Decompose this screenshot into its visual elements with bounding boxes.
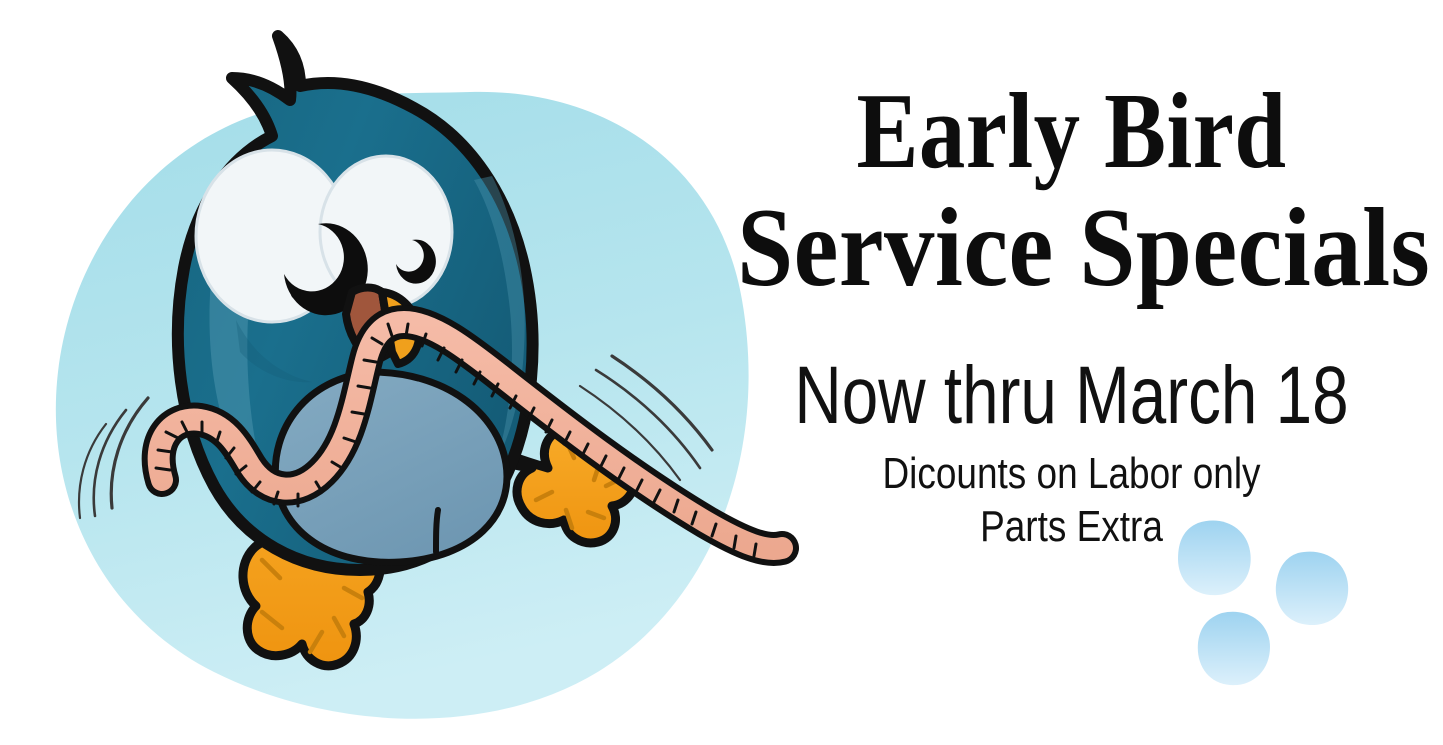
fineprint-line-1: Dicounts on Labor only <box>759 452 1383 496</box>
dot-3 <box>1198 612 1270 685</box>
promo-date-range: Now thru March 18 <box>774 355 1368 437</box>
bird-artwork <box>0 0 800 745</box>
dot-1 <box>1178 521 1251 596</box>
bird-belly-seam <box>436 510 438 552</box>
headline-line-2: Service Specials <box>737 192 1406 304</box>
dot-2 <box>1276 552 1348 625</box>
decorative-dots <box>1160 505 1390 705</box>
headline-line-1: Early Bird <box>752 78 1391 186</box>
early-bird-service-specials-banner: Early Bird Service Specials Now thru Mar… <box>0 0 1443 745</box>
bird-pupil-left-glint <box>291 289 301 299</box>
